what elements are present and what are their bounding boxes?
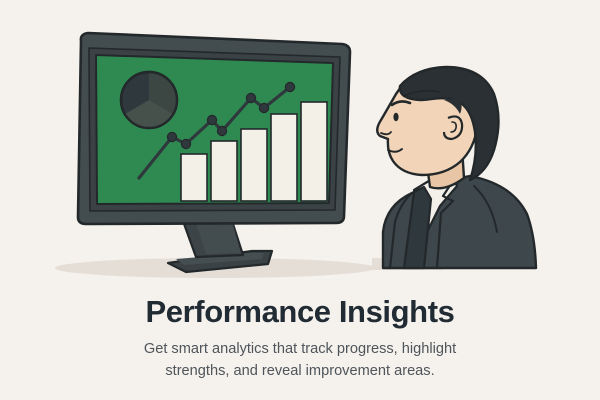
- page-title: Performance Insights: [0, 294, 600, 330]
- page-subtitle-line-2: strengths, and reveal improvement areas.: [165, 363, 434, 379]
- bar-1: [181, 154, 207, 201]
- trend-marker-3: [207, 115, 216, 124]
- pie-chart-inset: [121, 72, 177, 128]
- illustration-card: Performance Insights Get smart analytics…: [0, 0, 600, 400]
- eye: [393, 113, 398, 121]
- trend-marker-6: [259, 103, 268, 112]
- businessman-figure: [377, 67, 536, 268]
- bar-3: [241, 129, 267, 201]
- bar-5: [301, 102, 327, 201]
- trend-marker-5: [246, 93, 255, 102]
- trend-marker-7: [285, 82, 294, 91]
- page-subtitle: Get smart analytics that track progress,…: [100, 338, 500, 382]
- trend-marker-1: [167, 132, 176, 141]
- trend-marker-2: [181, 139, 190, 148]
- trend-marker-4: [217, 126, 226, 135]
- bar-2: [211, 141, 237, 201]
- page-subtitle-line-1: Get smart analytics that track progress,…: [144, 341, 456, 357]
- caption-block: Performance Insights Get smart analytics…: [0, 294, 600, 382]
- bar-4: [271, 114, 297, 201]
